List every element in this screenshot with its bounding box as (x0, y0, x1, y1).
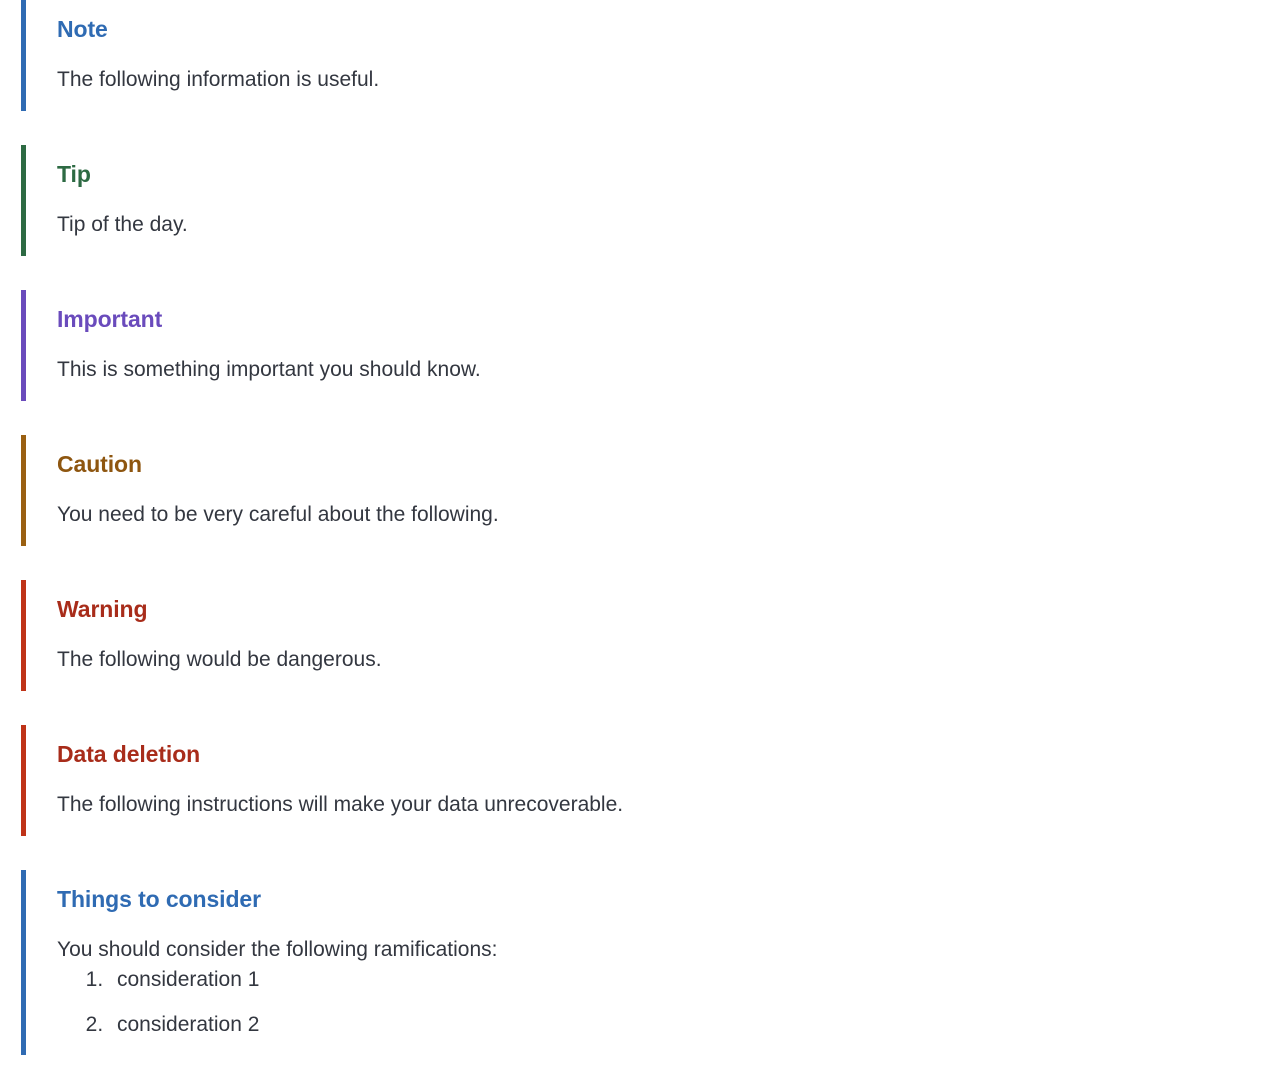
admonition-body: You need to be very careful about the fo… (57, 476, 1272, 546)
admonition-warning: Warning The following would be dangerous… (21, 580, 1272, 691)
admonition-body: The following information is useful. (57, 41, 1272, 111)
admonition-caution: Caution You need to be very careful abou… (21, 435, 1272, 546)
admonition-note: Note The following information is useful… (21, 0, 1272, 111)
admonition-things-to-consider: Things to consider You should consider t… (21, 870, 1272, 1055)
admonition-title: Important (57, 290, 1272, 331)
admonition-title: Warning (57, 580, 1272, 621)
admonition-title: Things to consider (57, 870, 1272, 911)
admonition-body: The following instructions will make you… (57, 766, 1272, 836)
list-item: consideration 1 (109, 969, 1272, 990)
list-item: consideration 2 (109, 1014, 1272, 1035)
admonition-body: The following would be dangerous. (57, 621, 1272, 691)
admonition-body: You should consider the following ramifi… (57, 911, 1272, 969)
admonition-title: Note (57, 0, 1272, 41)
admonition-body: This is something important you should k… (57, 331, 1272, 401)
admonition-title: Caution (57, 435, 1272, 476)
admonition-important: Important This is something important yo… (21, 290, 1272, 401)
admonition-tip: Tip Tip of the day. (21, 145, 1272, 256)
consideration-list: consideration 1 consideration 2 (57, 969, 1272, 1055)
admonition-data-deletion: Data deletion The following instructions… (21, 725, 1272, 836)
admonition-title: Data deletion (57, 725, 1272, 766)
admonition-body: Tip of the day. (57, 186, 1272, 256)
admonition-title: Tip (57, 145, 1272, 186)
document-body: Note The following information is useful… (0, 0, 1272, 1084)
